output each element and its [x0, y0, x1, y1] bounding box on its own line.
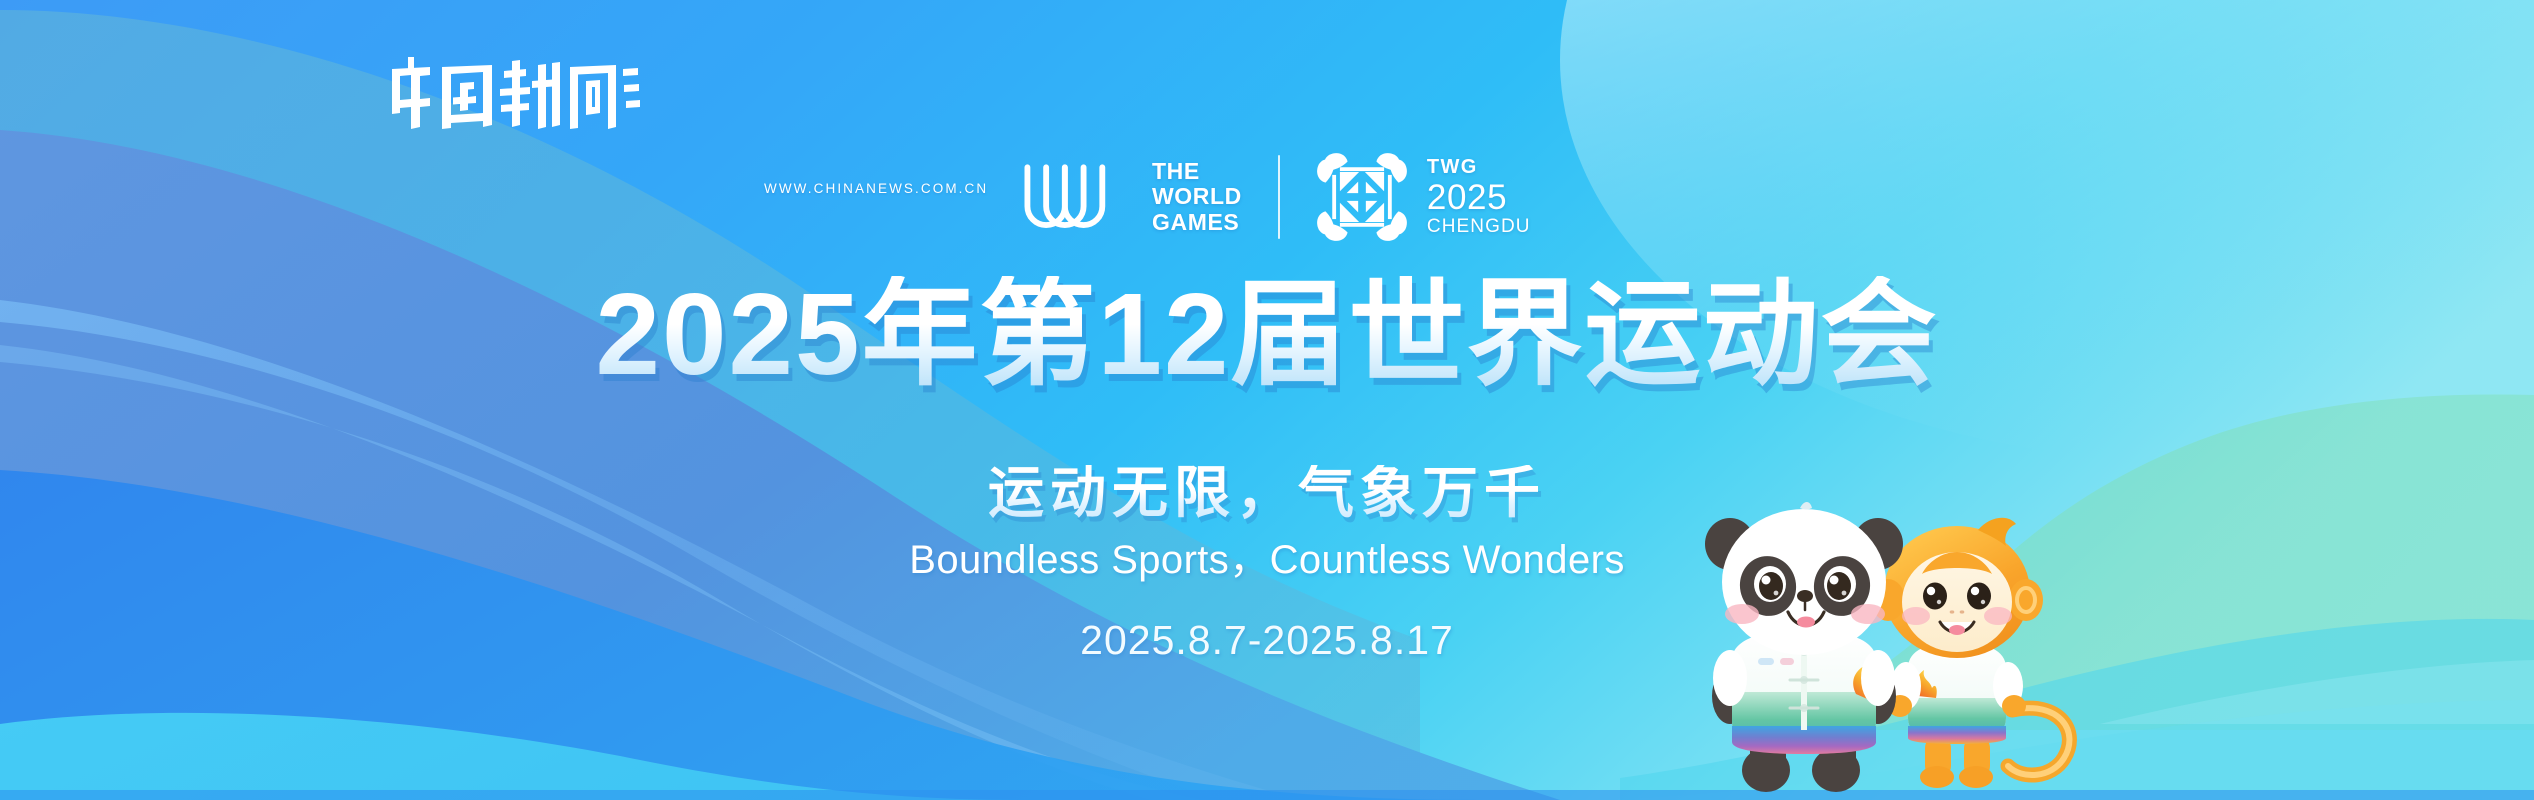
host-abbrev: TWG [1427, 156, 1531, 179]
slogan-english: Boundless Sports，Countless Wonders [0, 540, 2534, 580]
event-date-range: 2025.8.7-2025.8.17 [0, 620, 2534, 661]
golden-monkey-mascot [1871, 518, 2069, 788]
host-year: 2025 [1427, 179, 1531, 216]
wordmark-line-1: THE [1152, 159, 1242, 185]
panda-mascot [1705, 502, 1903, 792]
mascots-group [1660, 500, 2120, 800]
host-city-block: TWG 2025 CHENGDU [1427, 156, 1531, 238]
wordmark-line-2: WORLD [1152, 184, 1242, 210]
world-games-banner: WWW.CHINANEWS.COM.CN THE WORLD GAMES [0, 0, 2534, 800]
chinanews-url: WWW.CHINANEWS.COM.CN [764, 181, 988, 196]
host-city: CHENGDU [1427, 216, 1531, 238]
wordmark-line-3: GAMES [1152, 210, 1242, 236]
event-logo-lockup: THE WORLD GAMES [1016, 148, 1531, 246]
twg-chengdu-emblem-icon [1314, 149, 1410, 245]
chinanews-logo: WWW.CHINANEWS.COM.CN [380, 55, 640, 150]
vertical-divider-icon [1278, 155, 1280, 239]
chinanews-logo-icon [380, 55, 640, 133]
page-title: 2025年第12届世界运动会 [0, 276, 2534, 392]
world-games-w-icon [1016, 158, 1134, 236]
world-games-wordmark: THE WORLD GAMES [1152, 159, 1242, 236]
slogan-chinese: 运动无限，气象万千 [0, 465, 2534, 521]
